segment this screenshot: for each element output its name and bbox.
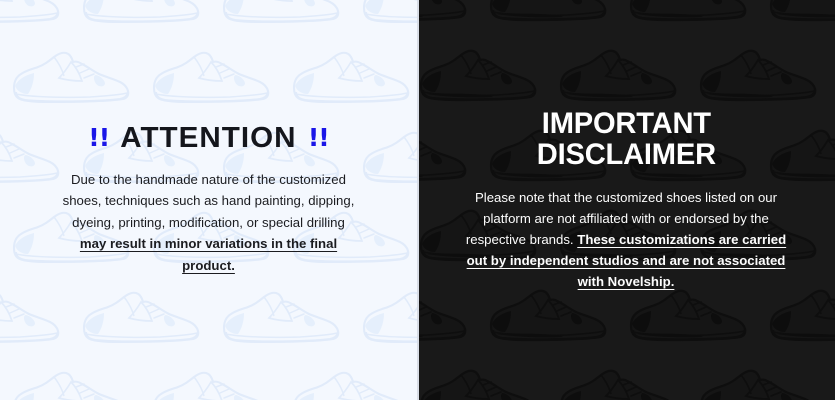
attention-heading: !! ATTENTION !! <box>88 124 328 153</box>
panel-divider <box>417 0 419 400</box>
exclamation-icon-left: !! <box>88 125 109 150</box>
attention-body: Due to the handmade nature of the custom… <box>59 169 359 276</box>
attention-heading-label: ATTENTION <box>120 124 296 153</box>
attention-body-emphasis: may result in minor variations in the fi… <box>80 236 337 272</box>
attention-panel: !! ATTENTION !! Due to the handmade natu… <box>0 0 417 400</box>
disclaimer-body: Please note that the customized shoes li… <box>465 187 787 293</box>
disclaimer-heading: IMPORTANT DISCLAIMER <box>536 108 715 171</box>
disclaimer-heading-line-1: IMPORTANT <box>536 108 715 140</box>
disclaimer-panel: IMPORTANT DISCLAIMER Please note that th… <box>417 0 835 400</box>
attention-body-normal: Due to the handmade nature of the custom… <box>63 172 355 230</box>
exclamation-icon-right: !! <box>308 125 329 150</box>
disclaimer-heading-line-2: DISCLAIMER <box>536 139 715 171</box>
disclaimer-banner: !! ATTENTION !! Due to the handmade natu… <box>0 0 835 400</box>
